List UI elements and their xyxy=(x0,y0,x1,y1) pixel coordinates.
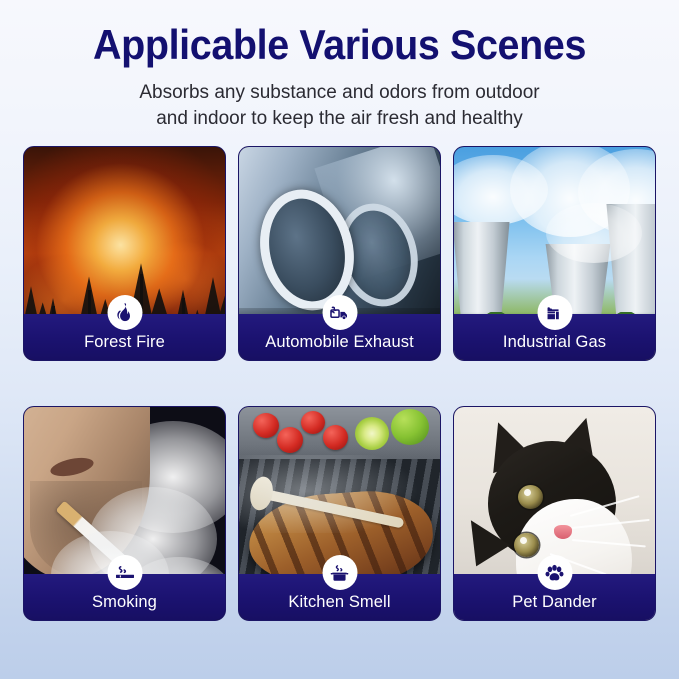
scene-card-automobile-exhaust[interactable]: Automobile Exhaust xyxy=(238,146,441,361)
page-subtitle: Absorbs any substance and odors from out… xyxy=(0,80,679,132)
subtitle-line-2: and indoor to keep the air fresh and hea… xyxy=(60,106,619,132)
scene-card-smoking[interactable]: Smoking xyxy=(23,406,226,621)
poster-header: Applicable Various Scenes Absorbs any su… xyxy=(0,0,679,132)
scene-label: Forest Fire xyxy=(84,333,165,351)
factory-smokestack-icon xyxy=(537,295,572,330)
scene-label: Industrial Gas xyxy=(503,333,606,351)
paw-print-icon xyxy=(537,555,572,590)
flame-icon xyxy=(107,295,142,330)
steaming-pot-icon xyxy=(322,555,357,590)
scene-card-forest-fire[interactable]: Forest Fire xyxy=(23,146,226,361)
applicable-scenes-poster: Applicable Various Scenes Absorbs any su… xyxy=(0,0,679,679)
scene-card-industrial-gas[interactable]: Industrial Gas xyxy=(453,146,656,361)
scene-label: Automobile Exhaust xyxy=(265,333,414,351)
scene-label: Smoking xyxy=(92,593,157,611)
scene-grid: Forest Fire Automobile Ex xyxy=(23,146,656,621)
subtitle-line-1: Absorbs any substance and odors from out… xyxy=(60,80,619,106)
scene-card-pet-dander[interactable]: Pet Dander xyxy=(453,406,656,621)
scene-label: Pet Dander xyxy=(512,593,596,611)
scene-card-kitchen-smell[interactable]: Kitchen Smell xyxy=(238,406,441,621)
scene-label: Kitchen Smell xyxy=(288,593,390,611)
page-title: Applicable Various Scenes xyxy=(20,20,658,70)
cigarette-icon xyxy=(107,555,142,590)
car-exhaust-icon xyxy=(322,295,357,330)
